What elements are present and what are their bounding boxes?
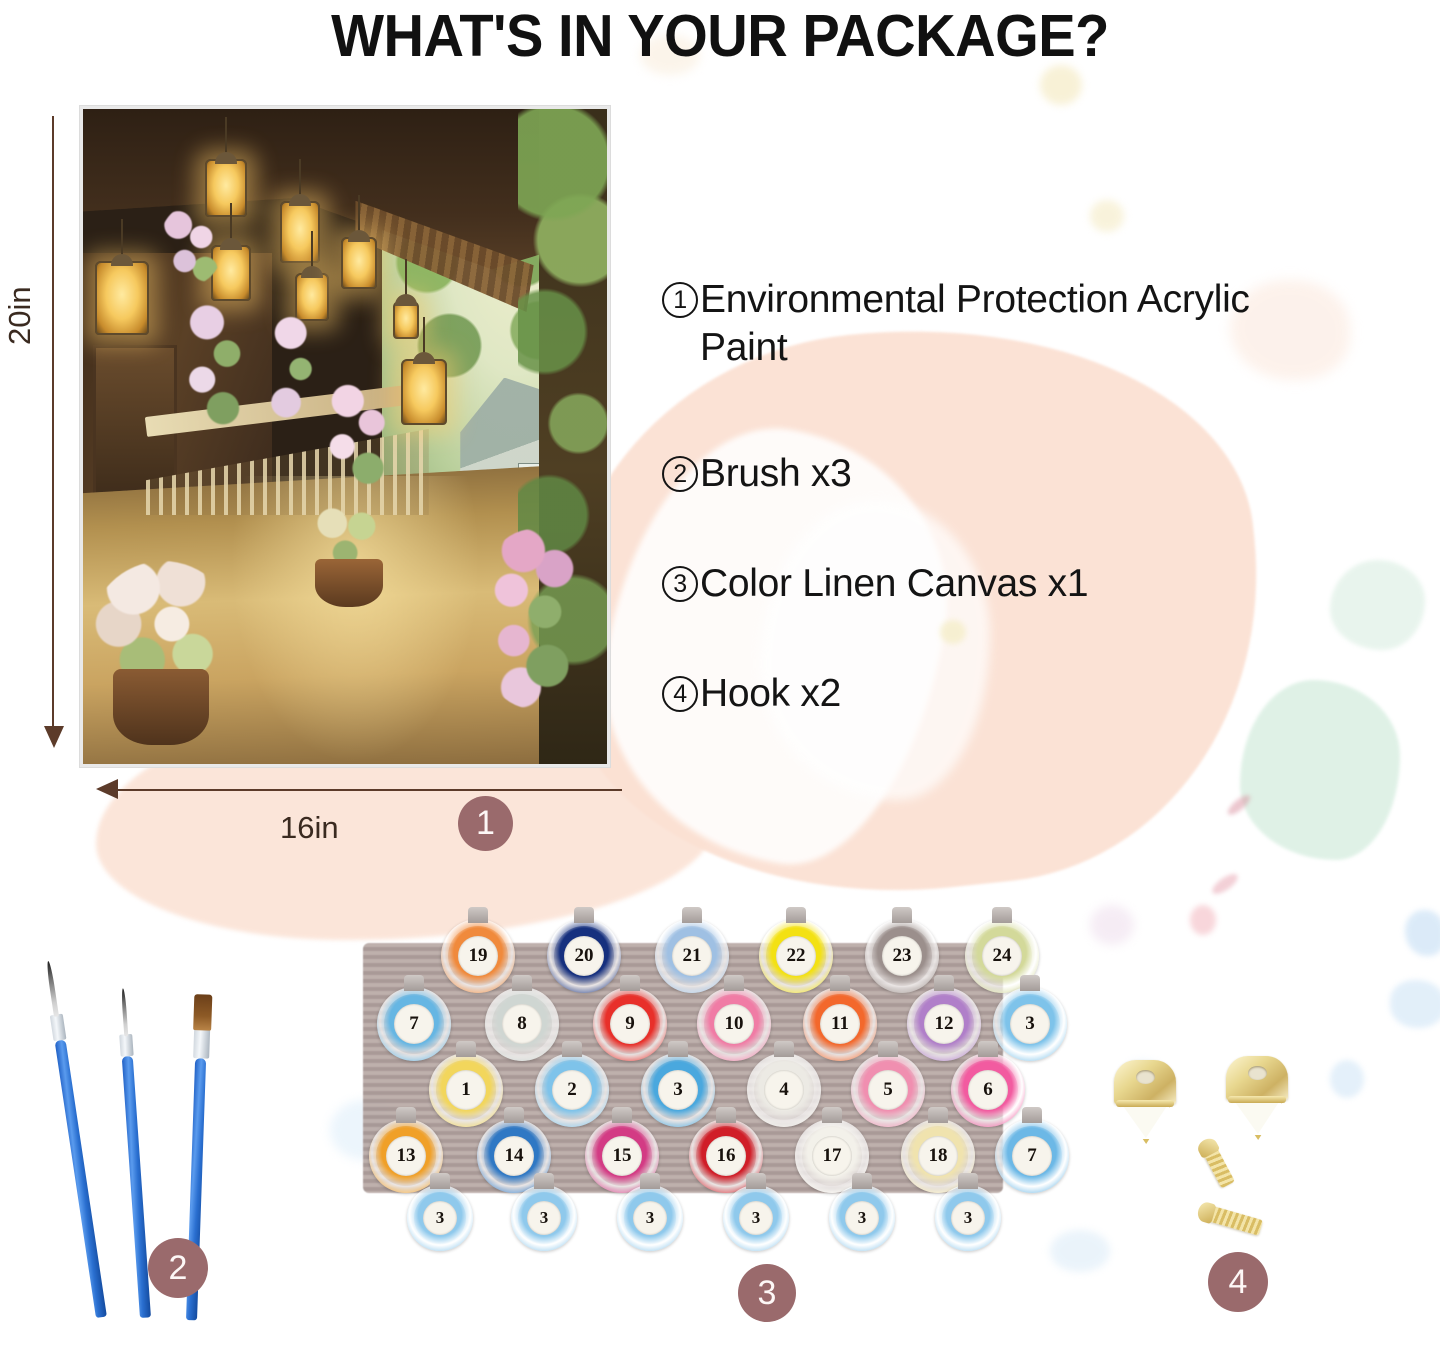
paint-pot-number: 13 <box>386 1136 426 1176</box>
paint-pot-cap <box>562 1041 582 1057</box>
paint-pot: 10 <box>697 987 771 1061</box>
paint-pot-cap <box>1020 975 1040 991</box>
paint-pot-cap <box>878 1041 898 1057</box>
step-badge-1: 1 <box>458 796 513 851</box>
paint-pot-cap <box>958 1173 978 1189</box>
width-dimension-label: 16in <box>280 810 339 846</box>
paint-pot-number: 22 <box>776 936 816 976</box>
paint-pot: 3 <box>407 1185 473 1251</box>
blue-splotch-b <box>1390 980 1440 1028</box>
paint-pot: 9 <box>593 987 667 1061</box>
paint-pot-number: 3 <box>1010 1004 1050 1044</box>
painting-lantern <box>341 237 377 289</box>
paint-pot-cap <box>640 1173 660 1189</box>
paint-pot-cap <box>992 907 1012 923</box>
brush-ferrule <box>193 1028 210 1059</box>
paint-pot-number: 3 <box>739 1201 773 1235</box>
paint-pot-number: 24 <box>982 936 1022 976</box>
paint-pot-number: 4 <box>764 1070 804 1110</box>
paint-pot-cap <box>468 907 488 923</box>
paint-pot: 3 <box>641 1053 715 1127</box>
brush-tip <box>46 961 59 1017</box>
list-item-label: Brush x3 <box>700 450 852 498</box>
pink-splotch-c <box>1225 792 1253 818</box>
paint-pot: 7 <box>377 987 451 1061</box>
paint-pot-cap <box>724 975 744 991</box>
paint-pot: 1 <box>429 1053 503 1127</box>
paint-pot: 11 <box>803 987 877 1061</box>
paint-pot-cap <box>934 975 954 991</box>
paint-pot: 20 <box>547 919 621 993</box>
paint-pot-number: 18 <box>918 1136 958 1176</box>
paint-pot: 21 <box>655 919 729 993</box>
paint-pot-cap <box>668 1041 688 1057</box>
blue-splotch-a <box>1405 910 1440 956</box>
package-contents-list: 1 Environmental Protection Acrylic Paint… <box>662 276 1362 718</box>
blue-splotch-c <box>1330 1060 1364 1098</box>
paint-pot-number: 3 <box>633 1201 667 1235</box>
height-arrow-head <box>44 726 64 748</box>
painting-lantern <box>205 159 247 217</box>
paint-pot-number: 8 <box>502 1004 542 1044</box>
paint-pot-cap <box>1022 1107 1042 1123</box>
brush-handle <box>122 1056 151 1318</box>
width-dimension-line <box>112 789 622 791</box>
height-dimension-label: 20in <box>2 286 38 345</box>
paint-pot-number: 23 <box>882 936 922 976</box>
paint-pot-cap <box>612 1107 632 1123</box>
painting-flowers <box>159 205 223 285</box>
lavender-splotch <box>1090 905 1134 945</box>
paint-pot: 3 <box>723 1185 789 1251</box>
paint-pot-number: 15 <box>602 1136 642 1176</box>
width-arrow-head <box>96 779 118 799</box>
paint-pot: 23 <box>865 919 939 993</box>
step-badge-3: 3 <box>738 1264 796 1322</box>
paint-pot-number: 20 <box>564 936 604 976</box>
painting-terracotta-pot <box>113 669 209 745</box>
paint-pot: 2 <box>535 1053 609 1127</box>
screw-head <box>1195 1135 1220 1159</box>
paint-pot-number: 3 <box>527 1201 561 1235</box>
paint-pot-number: 3 <box>658 1070 698 1110</box>
paint-pot-number: 1 <box>446 1070 486 1110</box>
paint-pot-cap <box>822 1107 842 1123</box>
paint-pot-number: 10 <box>714 1004 754 1044</box>
paint-pot-cap <box>504 1107 524 1123</box>
paint-pot-cap <box>404 975 424 991</box>
paint-pot-cap <box>396 1107 416 1123</box>
paint-pot-tray: 1920212223247891011123123456131415161718… <box>345 905 1035 1255</box>
paint-pot-number: 17 <box>812 1136 852 1176</box>
paint-pot: 3 <box>829 1185 895 1251</box>
paint-pot-cap <box>786 907 806 923</box>
hook-screw-hole <box>1248 1066 1267 1080</box>
brush-tip <box>193 994 212 1031</box>
paint-pot-number: 16 <box>706 1136 746 1176</box>
list-item-label: Color Linen Canvas x1 <box>700 560 1088 608</box>
paint-pot-cap <box>852 1173 872 1189</box>
brush-fine-liner <box>118 999 140 1318</box>
painting-terracotta-pot-mid <box>315 559 383 607</box>
paint-pot-cap <box>456 1041 476 1057</box>
canvas-artwork-preview <box>80 106 610 767</box>
paint-pot-number: 6 <box>968 1070 1008 1110</box>
list-item: 3 Color Linen Canvas x1 <box>662 560 1362 608</box>
paint-pot-number: 3 <box>423 1201 457 1235</box>
painting-flowers-center <box>311 377 403 497</box>
pink-splotch-b <box>1209 870 1240 897</box>
step-badge-2: 2 <box>148 1238 208 1298</box>
circled-number-icon: 1 <box>662 282 698 318</box>
yellow-splotch-a <box>1040 65 1082 105</box>
paint-pot: 3 <box>511 1185 577 1251</box>
paint-pot-number: 9 <box>610 1004 650 1044</box>
painting-lantern <box>393 301 419 339</box>
circled-number-icon: 4 <box>662 676 698 712</box>
paint-pot: 8 <box>485 987 559 1061</box>
paint-pot-cap <box>978 1041 998 1057</box>
hook-screw <box>1201 1143 1235 1189</box>
brush-fine-round <box>44 972 96 1318</box>
hook-screw <box>1203 1204 1263 1235</box>
paint-pot-cap <box>512 975 532 991</box>
screw-head <box>1196 1200 1217 1224</box>
brush-tip <box>121 988 128 1036</box>
paint-pot: 3 <box>935 1185 1001 1251</box>
list-item-label: Hook x2 <box>700 670 841 718</box>
paint-pot: 7 <box>995 1119 1069 1193</box>
paint-pot: 4 <box>747 1053 821 1127</box>
circled-number-icon: 2 <box>662 456 698 492</box>
list-item: 4 Hook x2 <box>662 670 1362 718</box>
paint-pot-number: 14 <box>494 1136 534 1176</box>
paint-pot-cap <box>928 1107 948 1123</box>
paint-pot-number: 2 <box>552 1070 592 1110</box>
paint-pot: 3 <box>993 987 1067 1061</box>
paint-pot: 19 <box>441 919 515 993</box>
painting-flowers-right <box>473 529 593 709</box>
paint-pot-number: 7 <box>1012 1136 1052 1176</box>
page-title: WHAT'S IN YOUR PACKAGE? <box>36 2 1404 70</box>
hook-screw-hole <box>1136 1070 1155 1084</box>
paint-pot: 22 <box>759 919 833 993</box>
paint-pot-cap <box>830 975 850 991</box>
paint-pot: 12 <box>907 987 981 1061</box>
pink-splotch-a <box>1190 905 1216 935</box>
paint-pot-number: 21 <box>672 936 712 976</box>
painting-lantern <box>95 261 149 335</box>
paint-pot-cap <box>574 907 594 923</box>
paint-pot-cap <box>746 1173 766 1189</box>
paint-pot-number: 3 <box>845 1201 879 1235</box>
paint-pot-cap <box>716 1107 736 1123</box>
paint-pot-cap <box>620 975 640 991</box>
brush-ferrule <box>119 1034 134 1057</box>
height-dimension-line <box>52 116 54 736</box>
painting-lantern <box>280 201 320 263</box>
paint-pot-cap <box>682 907 702 923</box>
paint-pot-number: 12 <box>924 1004 964 1044</box>
yellow-splotch-b <box>1090 200 1124 232</box>
list-item: 1 Environmental Protection Acrylic Paint <box>662 276 1362 372</box>
paint-pot: 5 <box>851 1053 925 1127</box>
list-item: 2 Brush x3 <box>662 450 1362 498</box>
porch-painting <box>83 109 607 764</box>
paint-pot-cap <box>774 1041 794 1057</box>
paint-pot-number: 11 <box>820 1004 860 1044</box>
list-item-label: Environmental Protection Acrylic Paint <box>700 276 1320 372</box>
paint-pot-cap <box>534 1173 554 1189</box>
paint-pot-cap <box>892 907 912 923</box>
blue-splotch-d <box>1050 1230 1110 1272</box>
paint-pot-number: 7 <box>394 1004 434 1044</box>
hook-ring-bar <box>1228 1096 1286 1103</box>
paint-pot-number: 5 <box>868 1070 908 1110</box>
paint-pot-cap <box>430 1173 450 1189</box>
hook-ring-bar <box>1116 1100 1174 1107</box>
brush-ferrule <box>50 1014 67 1042</box>
paint-pot: 3 <box>617 1185 683 1251</box>
paint-pot-number: 19 <box>458 936 498 976</box>
step-badge-4: 4 <box>1208 1252 1268 1312</box>
painting-flowers <box>175 299 255 429</box>
brush-handle <box>55 1039 107 1318</box>
paint-pot-number: 3 <box>951 1201 985 1235</box>
paint-pot: 6 <box>951 1053 1025 1127</box>
painting-lantern <box>401 359 447 425</box>
circled-number-icon: 3 <box>662 566 698 602</box>
infographic-root: WHAT'S IN YOUR PACKAGE? <box>0 0 1440 1364</box>
